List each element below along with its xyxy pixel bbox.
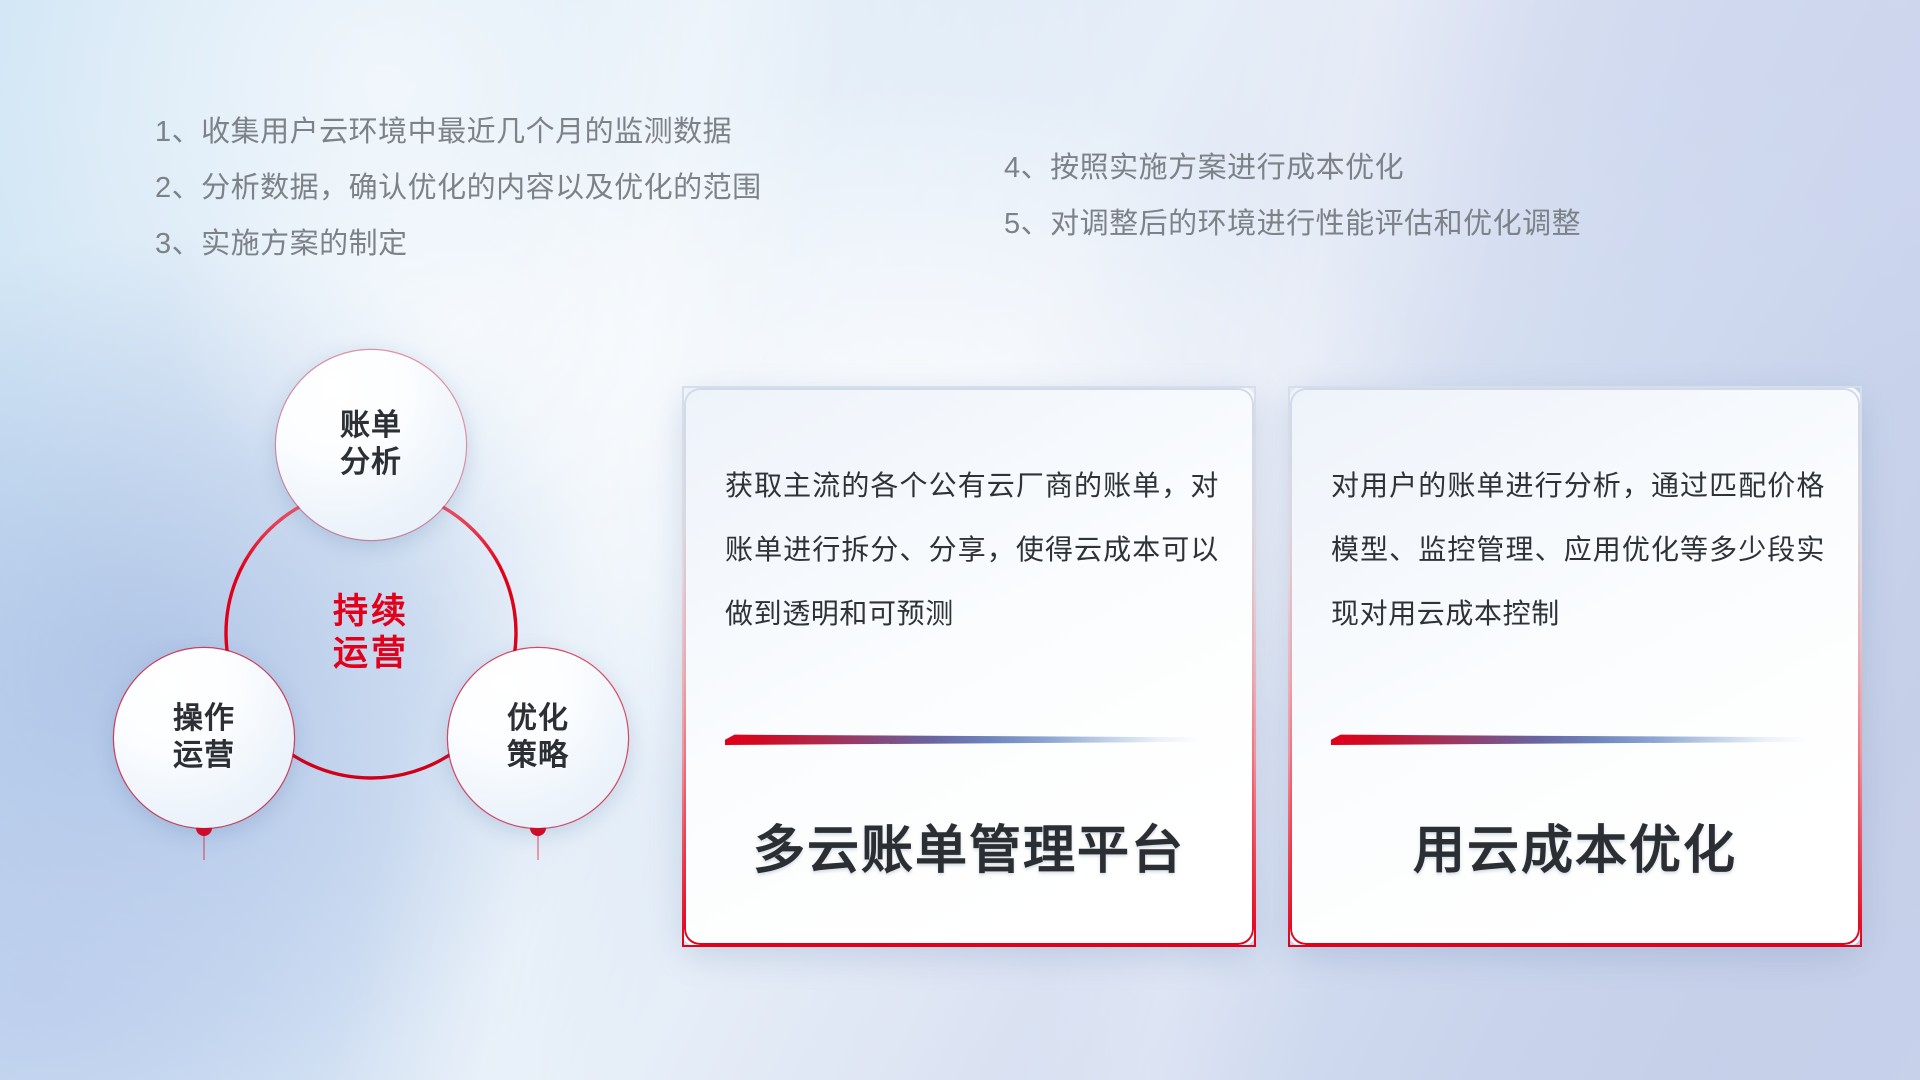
venn-bubble-bill-analysis[interactable]: 账单 分析 <box>276 350 466 540</box>
card-cloud-cost-optimization[interactable]: 对用户的账单进行分析，通过匹配价格模型、监控管理、应用优化等多少段实现对用云成本… <box>1288 386 1862 947</box>
divider-gradient-bar <box>104 306 1804 318</box>
venn-bubble-bill-analysis-line2: 分析 <box>340 445 402 482</box>
card-1-accent-line <box>725 734 1203 745</box>
venn-bubble-operation-ops-line2: 运营 <box>173 738 235 775</box>
step-item-1: 1、收集用户云环境中最近几个月的监测数据 <box>155 118 732 147</box>
venn-bubble-optimization-policy-line2: 策略 <box>507 738 569 775</box>
slide-canvas: 1、收集用户云环境中最近几个月的监测数据 2、分析数据，确认优化的内容以及优化的… <box>0 0 1920 1080</box>
step-item-5: 5、对调整后的环境进行性能评估和优化调整 <box>1004 210 1581 239</box>
step-item-2: 2、分析数据，确认优化的内容以及优化的范围 <box>155 174 762 203</box>
step-item-4: 4、按照实施方案进行成本优化 <box>1004 154 1404 183</box>
venn-diagram: 账单 分析 操作 运营 优化 策略 持续 运营 <box>100 348 660 948</box>
card-2-body-text: 对用户的账单进行分析，通过匹配价格模型、监控管理、应用优化等多少段实现对用云成本… <box>1331 454 1825 645</box>
venn-bubble-optimization-policy-line1: 优化 <box>507 701 569 738</box>
step-item-3: 3、实施方案的制定 <box>155 230 408 259</box>
section-divider <box>104 306 1804 322</box>
venn-center-line1: 持续 <box>333 591 409 633</box>
card-1-body-text: 获取主流的各个公有云厂商的账单，对账单进行拆分、分享，使得云成本可以做到透明和可… <box>725 454 1219 645</box>
venn-bubble-optimization-policy[interactable]: 优化 策略 <box>448 648 628 828</box>
venn-bubble-operation-ops[interactable]: 操作 运营 <box>114 648 294 828</box>
card-2-title: 用云成本优化 <box>1290 808 1860 883</box>
venn-bubble-bill-analysis-line1: 账单 <box>340 408 402 445</box>
card-2-accent-line <box>1331 734 1809 745</box>
card-1-title: 多云账单管理平台 <box>684 808 1254 883</box>
card-multi-cloud-billing-platform[interactable]: 获取主流的各个公有云厂商的账单，对账单进行拆分、分享，使得云成本可以做到透明和可… <box>682 386 1256 947</box>
steps-list: 1、收集用户云环境中最近几个月的监测数据 2、分析数据，确认优化的内容以及优化的… <box>0 118 1920 308</box>
venn-center-label: 持续 运营 <box>276 538 466 728</box>
venn-center-line2: 运营 <box>333 633 409 675</box>
venn-bubble-operation-ops-line1: 操作 <box>173 701 235 738</box>
